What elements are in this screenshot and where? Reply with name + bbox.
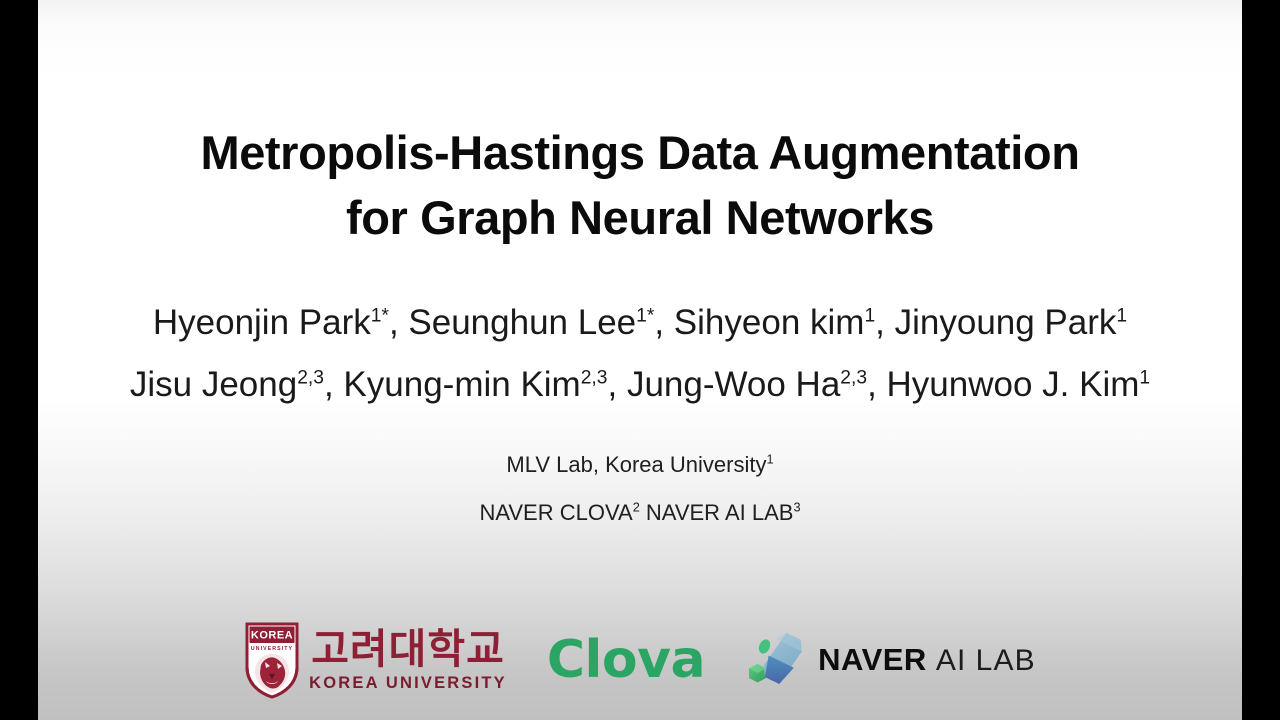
author-superscript: 1* (371, 305, 389, 326)
author-name: Hyeonjin Park (153, 303, 371, 342)
author-superscript: 1* (636, 305, 654, 326)
author-name: Kyung-min Kim (343, 365, 580, 404)
presentation-title-slide: Metropolis-Hastings Data Augmentation fo… (38, 0, 1242, 720)
author-name: Jung-Woo Ha (627, 365, 840, 404)
naver-ai-lab-wordmark: NAVER AI LAB (818, 644, 1036, 676)
korea-university-english-name: KOREA UNIVERSITY (309, 675, 507, 692)
affiliation-superscript: 3 (793, 500, 800, 515)
author-name: Jinyoung Park (895, 303, 1117, 342)
author-name: Seunghun Lee (408, 303, 636, 342)
author-list: Hyeonjin Park1*, Seunghun Lee1*, Sihyeon… (38, 292, 1242, 416)
affiliation-superscript: 1 (766, 452, 773, 467)
logo-clova: Clova (541, 634, 711, 686)
naver-ai-lab-hexagon-prism-icon (745, 628, 807, 692)
author-name: Sihyeon kim (674, 303, 865, 342)
affiliation-line-1: MLV Lab, Korea University1 (38, 441, 1242, 489)
author-superscript: 2,3 (840, 367, 867, 388)
svg-text:KOREA: KOREA (251, 630, 293, 642)
affiliation-name: NAVER CLOVA (479, 500, 632, 525)
page-title: Metropolis-Hastings Data Augmentation fo… (38, 120, 1242, 250)
video-player-stage: Metropolis-Hastings Data Augmentation fo… (0, 0, 1280, 720)
affiliation-superscript: 2 (633, 500, 640, 515)
logo-naver-ai-lab: NAVER AI LAB (745, 622, 1036, 698)
title-line-2: for Graph Neural Networks (38, 185, 1242, 250)
svg-text:UNIVERSITY: UNIVERSITY (251, 646, 293, 652)
author-name: Hyunwoo J. Kim (887, 365, 1140, 404)
affiliation-line-2: NAVER CLOVA2 NAVER AI LAB3 (38, 489, 1242, 537)
author-superscript: 1 (1116, 305, 1127, 326)
authors-line-1: Hyeonjin Park1*, Seunghun Lee1*, Sihyeon… (38, 292, 1242, 354)
affiliation-name: NAVER AI LAB (646, 500, 794, 525)
author-name: Jisu Jeong (130, 365, 297, 404)
pillarbox-left (0, 0, 38, 720)
affiliation-name: MLV Lab, Korea University (506, 452, 766, 477)
korea-university-wordmark: 고려대학교 KOREA UNIVERSITY (309, 629, 507, 692)
logo-row: KOREA UNIVERSITY 고려대 (38, 612, 1242, 708)
title-line-1: Metropolis-Hastings Data Augmentation (38, 120, 1242, 185)
naver-brand-text: NAVER (818, 644, 927, 675)
author-superscript: 2,3 (297, 367, 324, 388)
pillarbox-right (1242, 0, 1280, 720)
naver-ai-text: AI (936, 646, 967, 676)
affiliation-list: MLV Lab, Korea University1NAVER CLOVA2 N… (38, 441, 1242, 537)
author-superscript: 1 (864, 305, 875, 326)
author-superscript: 1 (1139, 367, 1150, 388)
author-superscript: 2,3 (581, 367, 608, 388)
authors-line-2: Jisu Jeong2,3, Kyung-min Kim2,3, Jung-Wo… (38, 354, 1242, 416)
logo-korea-university: KOREA UNIVERSITY 고려대 (244, 617, 507, 703)
korea-university-korean-name: 고려대학교 (311, 629, 505, 670)
korea-university-shield-icon: KOREA UNIVERSITY (244, 621, 300, 699)
naver-lab-text: LAB (976, 646, 1036, 676)
